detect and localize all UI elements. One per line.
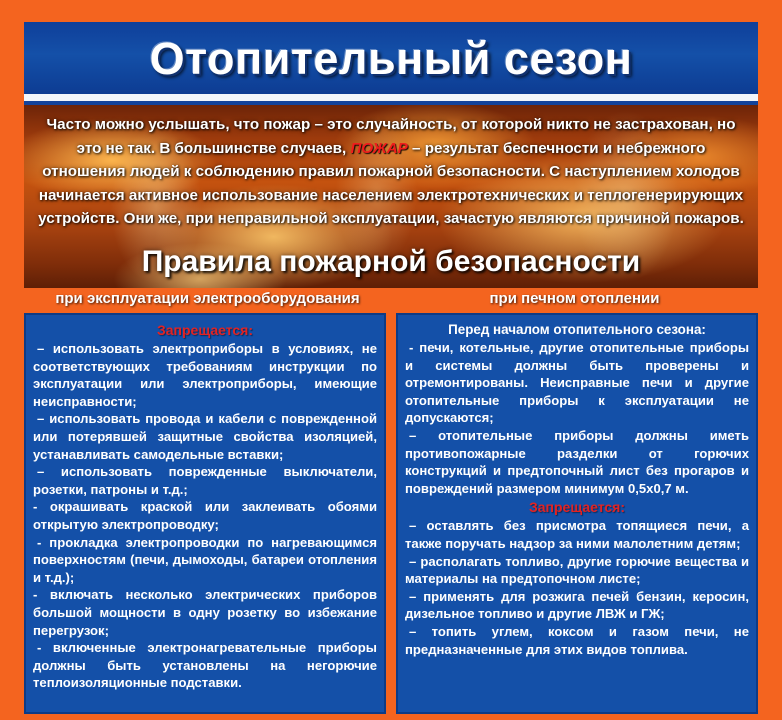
title-banner: Отопительный сезон [24, 22, 758, 94]
left-panel-item: - окрашивать краской или заклеивать обоя… [33, 498, 377, 533]
left-panel-item: - прокладка электропроводки по нагревающ… [33, 534, 377, 587]
left-panel-item: - включать несколько электрических прибо… [33, 586, 377, 639]
left-panel-item: – использовать электроприборы в условиях… [33, 340, 377, 410]
right-panel-item: – располагать топливо, другие горючие ве… [405, 553, 749, 588]
right-panel-heading-forbidden: Запрещается: [405, 498, 749, 516]
left-panel-item: – использовать провода и кабели с повреж… [33, 410, 377, 463]
poster-title: Отопительный сезон [150, 36, 633, 81]
subheader-electrical: при эксплуатации электрооборудования [24, 288, 391, 312]
right-panel-heading-season: Перед началом отопительного сезона: [405, 321, 749, 339]
column-subheaders: при эксплуатации электрооборудования при… [24, 288, 758, 312]
intro-paragraph: Часто можно услышать, что пожар – это сл… [36, 113, 746, 231]
left-panel-heading: Запрещается: [33, 321, 377, 339]
intro-highlight-pozhar: ПОЖАР [350, 140, 407, 157]
right-panel-item: – применять для розжига печей бензин, ке… [405, 588, 749, 623]
left-panel-item: - включенные электронагревательные прибо… [33, 639, 377, 692]
right-panel-item: – отопительные приборы должны иметь прот… [405, 427, 749, 497]
fire-texture-band: Часто можно услышать, что пожар – это сл… [24, 105, 758, 288]
subheader-stove-heating: при печном отоплении [391, 288, 758, 312]
left-panel-item: – использовать поврежденные выключатели,… [33, 463, 377, 498]
separator-stripe-white [24, 94, 758, 101]
fire-safety-poster: Отопительный сезон Часто можно услышать,… [0, 0, 782, 720]
right-panel-item: – оставлять без присмотра топящиеся печи… [405, 517, 749, 552]
rules-heading: Правила пожарной безопасности [24, 245, 758, 279]
right-panel-item: – топить углем, коксом и газом печи, не … [405, 623, 749, 658]
right-panel-item: - печи, котельные, другие отопительные п… [405, 339, 749, 427]
panel-stove-heating: Перед началом отопительного сезона: - пе… [396, 313, 758, 714]
content-panels: Запрещается: – использовать электроприбо… [24, 313, 758, 714]
panel-electrical-equipment: Запрещается: – использовать электроприбо… [24, 313, 386, 714]
